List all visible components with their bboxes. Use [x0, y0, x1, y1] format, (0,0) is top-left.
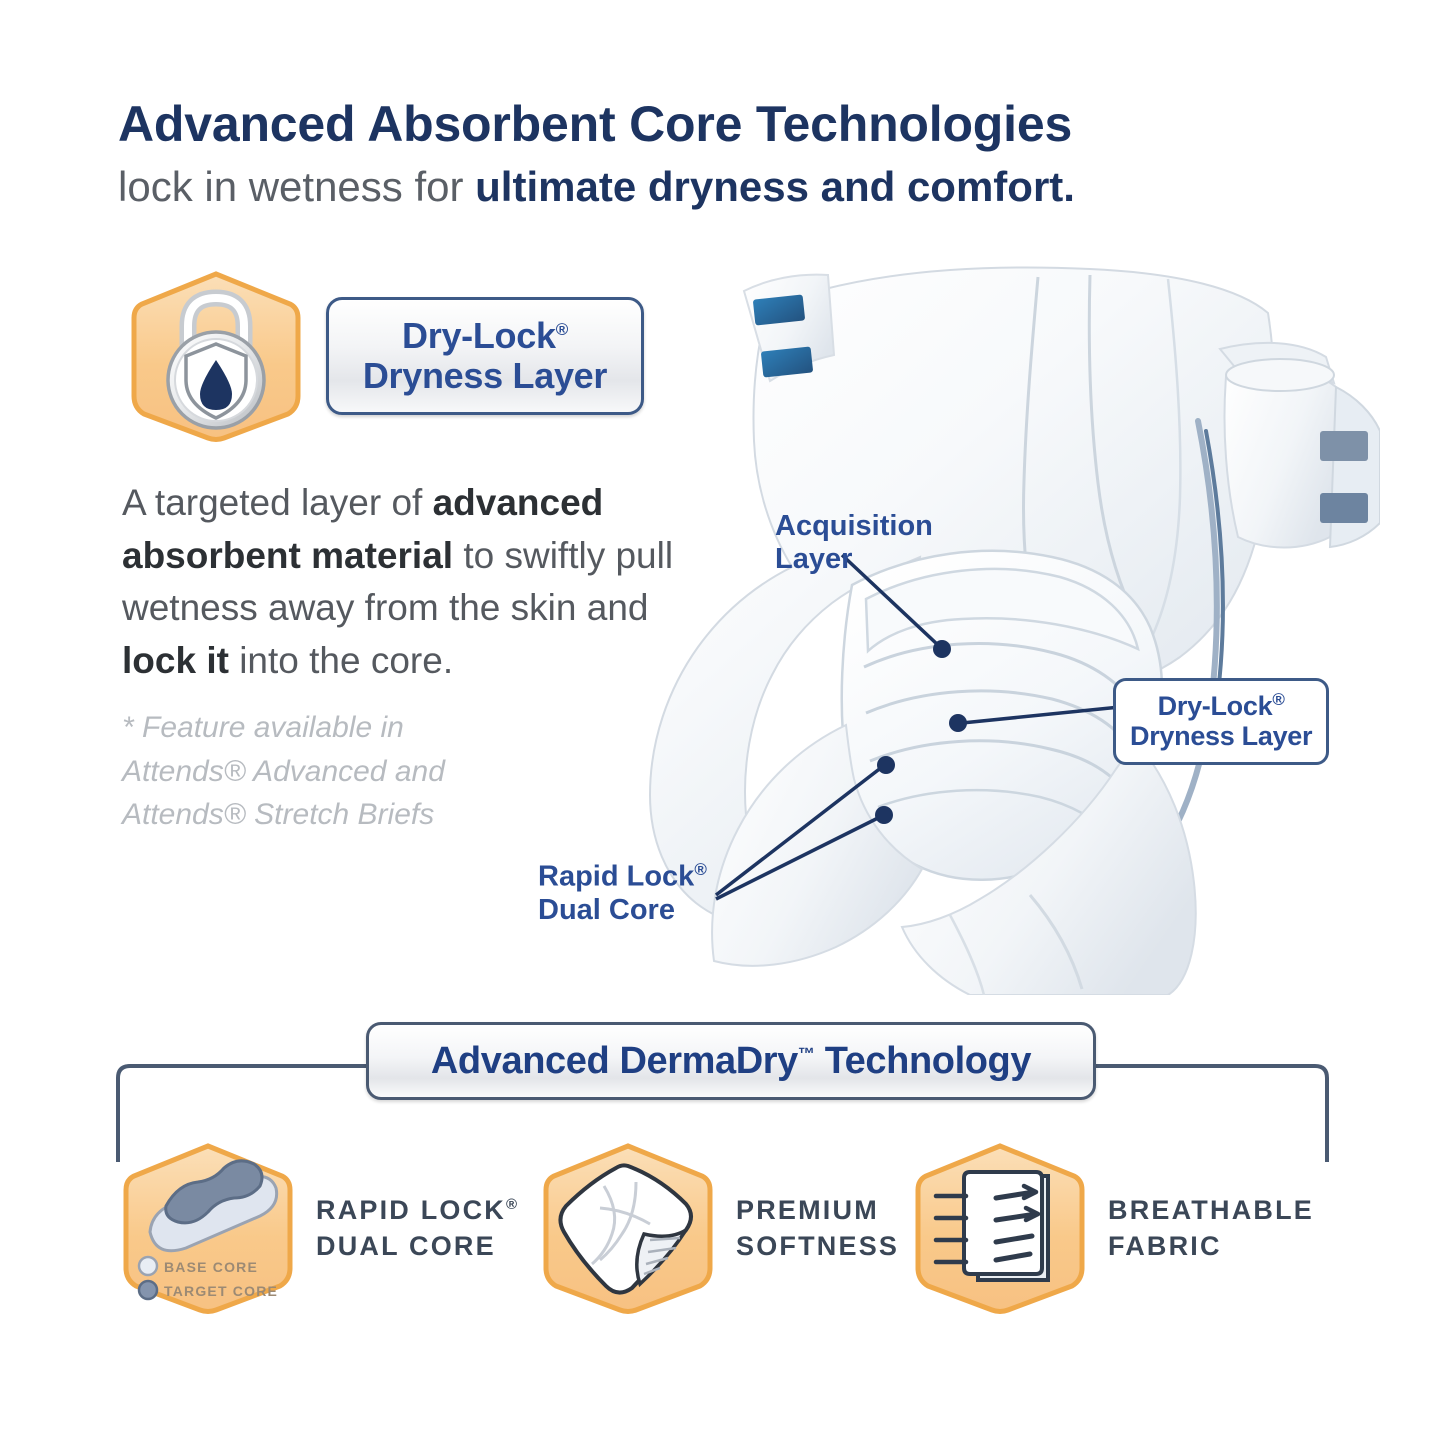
feature-label-line1: Rapid Lock®	[316, 1192, 517, 1228]
absorbent-pad-dual-core-icon: BASE CORE TARGET CORE	[120, 1140, 296, 1316]
dermadry-technology-banner: Advanced DermaDry™ Technology	[366, 1022, 1096, 1100]
callout-drylock-line1: Dry-Lock®	[1130, 690, 1312, 721]
feature-row: BASE CORE TARGET CORE Rapid Lock® Dual C…	[120, 1140, 1330, 1316]
adult-brief-diaper-diagram	[620, 255, 1380, 995]
page-title: Advanced Absorbent Core Technologies	[118, 98, 1338, 151]
callout-acquisition-line2: Layer	[775, 543, 933, 576]
footnote-line-2: Attends® Advanced and	[122, 750, 562, 794]
feature-label-premium-softness: Premium Softness	[736, 1192, 899, 1265]
desc-bold-2: lock it	[122, 640, 229, 681]
drylock-dryness-layer-chip: Dry-Lock® Dryness Layer	[326, 297, 644, 415]
feature-label-line2: Dual Core	[316, 1228, 517, 1264]
dermadry-text-main: Advanced DermaDry	[431, 1040, 798, 1082]
footnote-line-1: * Feature available in	[122, 706, 562, 750]
page-subtitle: lock in wetness for ultimate dryness and…	[118, 165, 1338, 209]
registered-mark: ®	[506, 1196, 517, 1213]
registered-mark: ®	[1272, 690, 1284, 709]
chip-line-2: Dryness Layer	[363, 356, 607, 396]
desc-part-1: A targeted layer of	[122, 482, 433, 523]
infographic-page: Advanced Absorbent Core Technologies loc…	[0, 0, 1445, 1445]
desc-part-3: into the core.	[229, 640, 453, 681]
callout-acquisition-layer: Acquisition Layer	[775, 510, 933, 576]
feature-label-rapid-lock: Rapid Lock® Dual Core	[316, 1192, 517, 1265]
legend-target-core: TARGET CORE	[164, 1283, 278, 1299]
footnote-line-3: Attends® Stretch Briefs	[122, 793, 562, 837]
chip-line-1: Dry-Lock®	[402, 316, 568, 356]
padlock-shield-droplet-icon	[128, 268, 304, 444]
legend-base-core: BASE CORE	[164, 1259, 258, 1275]
feature-label-breathable-fabric: Breathable Fabric	[1108, 1192, 1314, 1265]
heading-block: Advanced Absorbent Core Technologies loc…	[118, 98, 1338, 209]
trademark-mark: ™	[798, 1044, 815, 1063]
dermadry-text-tail: Technology	[815, 1040, 1032, 1082]
callout-acquisition-line1: Acquisition	[775, 510, 933, 543]
callout-rapidlock-line2: Dual Core	[538, 894, 707, 927]
breathable-fabric-sheet-icon	[912, 1140, 1088, 1316]
subtitle-emphasis: ultimate dryness and comfort.	[475, 163, 1075, 210]
footnote: * Feature available in Attends® Advanced…	[122, 706, 562, 837]
pillow-icon	[540, 1140, 716, 1316]
feature-rapid-lock-dual-core: BASE CORE TARGET CORE Rapid Lock® Dual C…	[120, 1140, 540, 1316]
feature-label-line2: Softness	[736, 1228, 899, 1264]
callout-drylock-line2: Dryness Layer	[1130, 721, 1312, 751]
feature-label-line2: Fabric	[1108, 1228, 1314, 1264]
callout-rapid-lock-dual-core: Rapid Lock® Dual Core	[538, 860, 707, 927]
registered-mark: ®	[694, 860, 707, 879]
subtitle-plain: lock in wetness for	[118, 163, 475, 210]
feature-label-line1: Breathable	[1108, 1192, 1314, 1228]
callout-rapidlock-line1: Rapid Lock®	[538, 860, 707, 894]
drylock-feature-header: Dry-Lock® Dryness Layer	[128, 268, 644, 444]
callout-drylock-dryness-layer: Dry-Lock® Dryness Layer	[1113, 678, 1329, 765]
feature-label-line1: Premium	[736, 1192, 899, 1228]
feature-breathable-fabric: Breathable Fabric	[912, 1140, 1314, 1316]
dermadry-banner-text: Advanced DermaDry™ Technology	[431, 1040, 1031, 1083]
registered-mark: ®	[556, 320, 568, 339]
feature-premium-softness: Premium Softness	[540, 1140, 912, 1316]
